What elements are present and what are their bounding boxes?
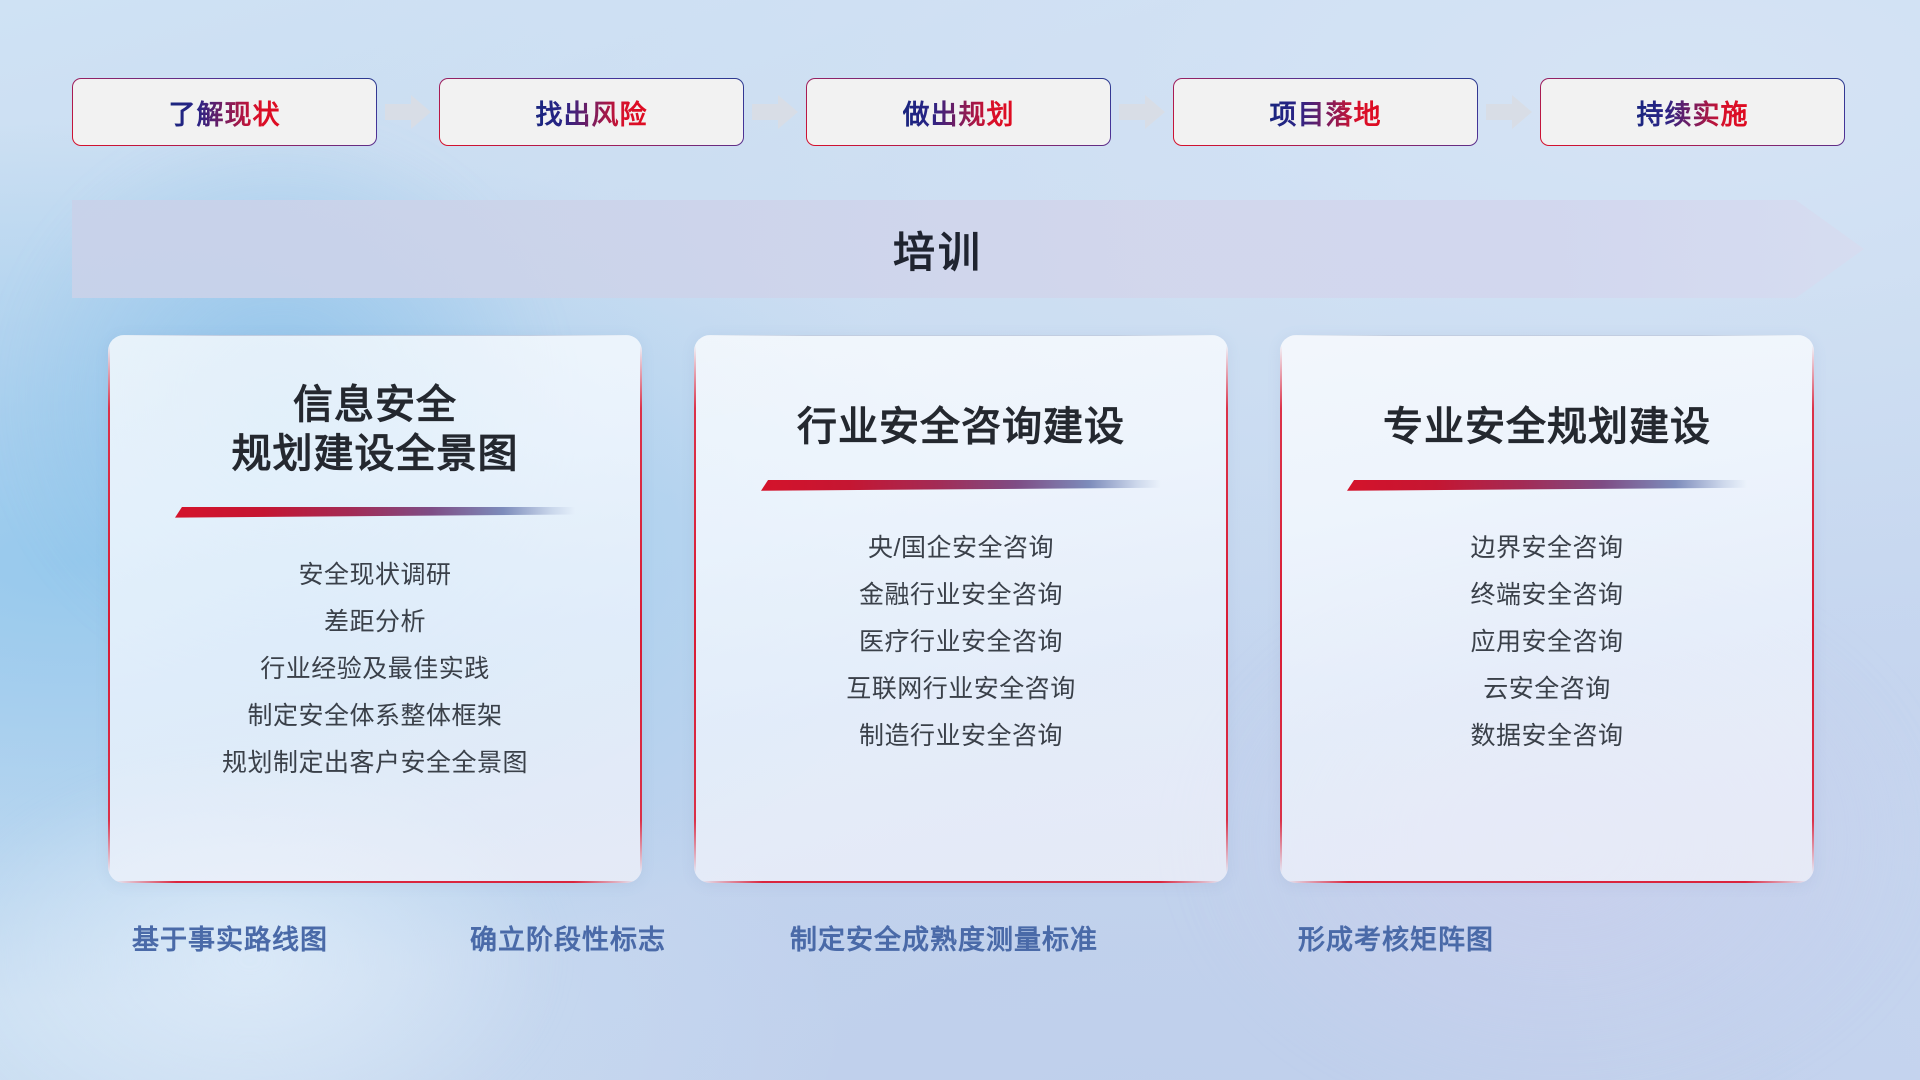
- card-accent-divider: [761, 480, 1161, 491]
- process-step-label: 持续实施: [1637, 93, 1749, 132]
- process-step-label: 项目落地: [1270, 93, 1382, 132]
- process-step-2[interactable]: 找出风险: [439, 78, 744, 146]
- banner-title: 培训: [72, 200, 1864, 298]
- card-item-list: 央/国企安全咨询金融行业安全咨询医疗行业安全咨询互联网行业安全咨询制造行业安全咨…: [728, 525, 1194, 760]
- card-accent-divider: [1347, 480, 1747, 491]
- training-banner: 培训: [72, 200, 1864, 298]
- card-accent-divider-bar: [761, 480, 1161, 491]
- process-step-row: 了解现状找出风险做出规划项目落地持续实施: [72, 78, 1858, 146]
- right-arrow-icon: [744, 92, 806, 132]
- list-item[interactable]: 应用安全咨询: [1314, 619, 1780, 666]
- capability-card-2[interactable]: 行业安全咨询建设央/国企安全咨询金融行业安全咨询医疗行业安全咨询互联网行业安全咨…: [694, 335, 1228, 883]
- footnote-4: 形成考核矩阵图: [1298, 918, 1494, 957]
- card-content: 信息安全 规划建设全景图安全现状调研差距分析行业经验及最佳实践制定安全体系整体框…: [108, 335, 642, 883]
- capability-card-row: 信息安全 规划建设全景图安全现状调研差距分析行业经验及最佳实践制定安全体系整体框…: [108, 335, 1814, 883]
- list-item[interactable]: 规划制定出客户安全全景图: [142, 740, 608, 787]
- list-item[interactable]: 医疗行业安全咨询: [728, 619, 1194, 666]
- list-item[interactable]: 边界安全咨询: [1314, 525, 1780, 572]
- footnote-1: 基于事实路线图: [132, 918, 328, 957]
- card-accent-divider: [175, 507, 575, 518]
- process-step-1[interactable]: 了解现状: [72, 78, 377, 146]
- process-step-label: 找出风险: [536, 93, 648, 132]
- card-accent-divider-bar: [175, 507, 575, 518]
- process-step-5[interactable]: 持续实施: [1540, 78, 1845, 146]
- process-step-4[interactable]: 项目落地: [1173, 78, 1478, 146]
- footnote-3: 制定安全成熟度测量标准: [790, 918, 1098, 957]
- card-title: 专业安全规划建设: [1383, 381, 1711, 452]
- footnote-2: 确立阶段性标志: [470, 918, 666, 957]
- card-title: 信息安全 规划建设全景图: [232, 381, 519, 479]
- process-step-label: 做出规划: [903, 93, 1015, 132]
- list-item[interactable]: 行业经验及最佳实践: [142, 646, 608, 693]
- list-item[interactable]: 制造行业安全咨询: [728, 713, 1194, 760]
- capability-card-3[interactable]: 专业安全规划建设边界安全咨询终端安全咨询应用安全咨询云安全咨询数据安全咨询: [1280, 335, 1814, 883]
- right-arrow-icon: [377, 92, 439, 132]
- list-item[interactable]: 云安全咨询: [1314, 666, 1780, 713]
- card-item-list: 边界安全咨询终端安全咨询应用安全咨询云安全咨询数据安全咨询: [1314, 525, 1780, 760]
- process-step-label: 了解现状: [169, 93, 281, 132]
- list-item[interactable]: 终端安全咨询: [1314, 572, 1780, 619]
- list-item[interactable]: 差距分析: [142, 599, 608, 646]
- list-item[interactable]: 金融行业安全咨询: [728, 572, 1194, 619]
- card-title: 行业安全咨询建设: [797, 381, 1125, 452]
- list-item[interactable]: 制定安全体系整体框架: [142, 693, 608, 740]
- card-content: 专业安全规划建设边界安全咨询终端安全咨询应用安全咨询云安全咨询数据安全咨询: [1280, 335, 1814, 883]
- process-step-3[interactable]: 做出规划: [806, 78, 1111, 146]
- capability-card-1[interactable]: 信息安全 规划建设全景图安全现状调研差距分析行业经验及最佳实践制定安全体系整体框…: [108, 335, 642, 883]
- list-item[interactable]: 安全现状调研: [142, 552, 608, 599]
- card-content: 行业安全咨询建设央/国企安全咨询金融行业安全咨询医疗行业安全咨询互联网行业安全咨…: [694, 335, 1228, 883]
- list-item[interactable]: 数据安全咨询: [1314, 713, 1780, 760]
- list-item[interactable]: 互联网行业安全咨询: [728, 666, 1194, 713]
- card-item-list: 安全现状调研差距分析行业经验及最佳实践制定安全体系整体框架规划制定出客户安全全景…: [142, 552, 608, 787]
- footnote-row: 基于事实路线图确立阶段性标志制定安全成熟度测量标准形成考核矩阵图: [0, 918, 1920, 968]
- card-accent-divider-bar: [1347, 480, 1747, 491]
- right-arrow-icon: [1111, 92, 1173, 132]
- right-arrow-icon: [1478, 92, 1540, 132]
- list-item[interactable]: 央/国企安全咨询: [728, 525, 1194, 572]
